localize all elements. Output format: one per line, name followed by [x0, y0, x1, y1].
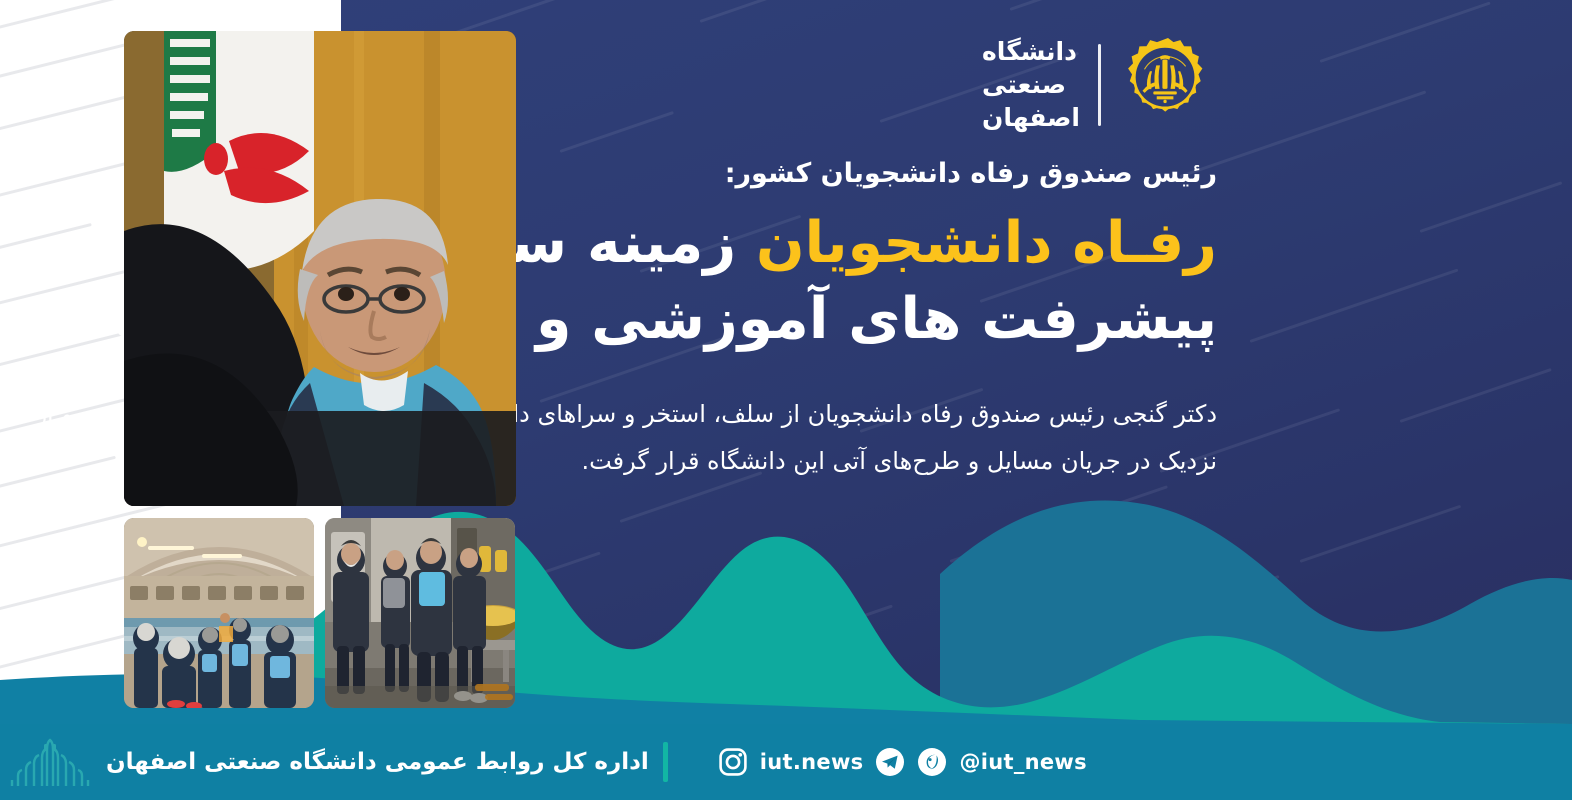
bale-handle[interactable]: @iut_news	[959, 750, 1086, 774]
footer-org-title: اداره کل روابط عمومی دانشگاه صنعتی اصفها…	[106, 749, 649, 775]
brand-divider	[1098, 44, 1101, 126]
brand-name-line-3: اصفهان	[982, 104, 1080, 132]
footer-org-group: اداره کل روابط عمومی دانشگاه صنعتی اصفها…	[0, 732, 668, 792]
brand-name: دانشگاه صنعتی اصفهان	[982, 38, 1080, 132]
footer-bar: اداره کل روابط عمومی دانشگاه صنعتی اصفها…	[0, 724, 1572, 800]
brand-lockup: دانشگاه صنعتی اصفهان	[982, 36, 1217, 134]
instagram-icon[interactable]	[718, 747, 748, 777]
iut-gear-emblem-icon	[1119, 36, 1217, 134]
brand-name-line-2: صنعتی	[982, 71, 1066, 99]
photo-main-official-portrait	[124, 31, 516, 506]
instagram-handle[interactable]: iut.news	[760, 750, 864, 774]
campus-building-icon	[6, 732, 92, 792]
footer-social-group: iut.news @iut_news	[718, 747, 1087, 777]
news-poster: دانشگاه صنعتی اصفهان رئیس صندوق رفاه دان…	[0, 0, 1572, 800]
brand-name-line-1: دانشگاه	[982, 38, 1077, 66]
bale-icon[interactable]	[917, 747, 947, 777]
telegram-icon[interactable]	[875, 747, 905, 777]
footer-accent-divider	[663, 742, 668, 782]
photo-kitchen-visit	[325, 518, 515, 708]
headline-accent-text: رفـاه دانشجویان	[756, 210, 1217, 276]
photo-pool-visit	[124, 518, 314, 708]
